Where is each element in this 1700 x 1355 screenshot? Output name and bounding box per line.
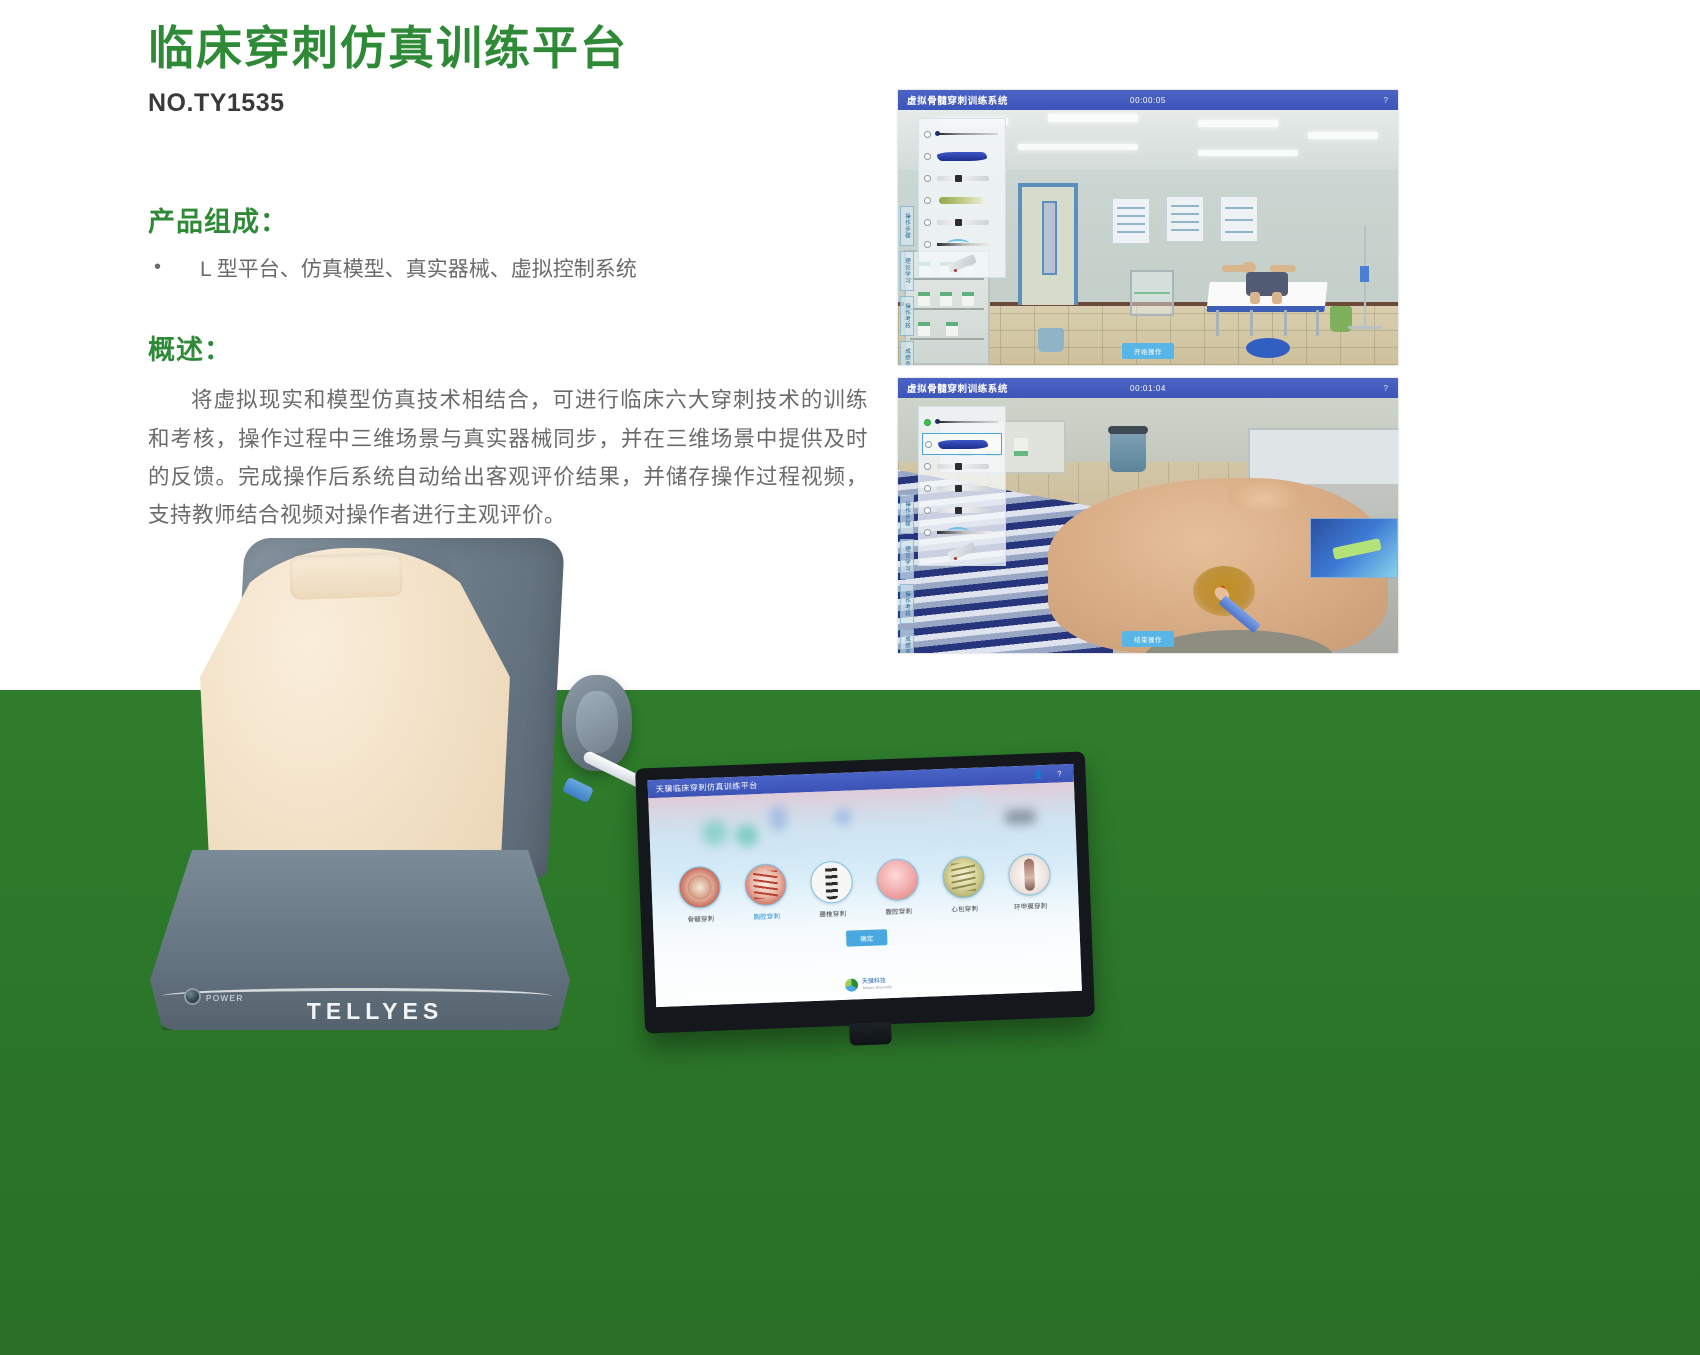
session-timer: 00:00:05 bbox=[898, 96, 1398, 105]
company-logo: 天骥科技 Tellyes Scientific bbox=[845, 977, 892, 992]
large-syringe-icon bbox=[935, 504, 1000, 517]
sidebar-item-exam[interactable]: 操作考核 bbox=[900, 584, 914, 624]
puncture-needle-icon bbox=[935, 128, 1000, 141]
syringe-icon bbox=[935, 172, 1000, 185]
waste-bin bbox=[1038, 328, 1064, 352]
tool-row-marrow-kit[interactable] bbox=[922, 521, 1002, 543]
composition-heading: 产品组成： bbox=[148, 200, 868, 239]
side-tab-strip[interactable]: 操作步骤 理论学习 操作考核 成绩查询 bbox=[900, 206, 914, 365]
screenshot-clinic-scene: 虚拟骨髓穿刺训练系统 00:00:05 ? bbox=[898, 90, 1398, 365]
sidebar-item-exam[interactable]: 操作考核 bbox=[900, 296, 914, 336]
green-swab-icon bbox=[935, 482, 1000, 495]
manikin-neck-plate bbox=[289, 552, 402, 600]
forceps-icon bbox=[935, 150, 1000, 163]
tool-row-swab[interactable] bbox=[922, 189, 1002, 211]
puncture-needle-icon bbox=[935, 416, 1000, 429]
picture-in-picture-view bbox=[1310, 518, 1398, 578]
stool bbox=[1246, 338, 1290, 358]
syringe-icon bbox=[935, 460, 1000, 473]
shoulder bbox=[1228, 480, 1298, 512]
tool-row-large-syringe[interactable] bbox=[922, 499, 1002, 521]
question-mark-icon[interactable]: ? bbox=[1057, 769, 1062, 778]
instrument-tool-panel[interactable] bbox=[918, 406, 1006, 566]
overview-body: 将虚拟现实和模型仿真技术相结合，可进行临床六大穿刺技术的训练和考核，操作过程中三… bbox=[148, 381, 868, 534]
tool-row-syringe[interactable] bbox=[922, 167, 1002, 189]
blurred-shape bbox=[1005, 809, 1036, 824]
radio-icon[interactable] bbox=[924, 463, 931, 470]
tool-row-syringe[interactable] bbox=[922, 455, 1002, 477]
procedure-pericardium[interactable]: 心包穿刺 bbox=[939, 855, 989, 914]
list-item: L 型平台、仿真模型、真实器械、虚拟控制系统 bbox=[148, 253, 868, 287]
monitor-bezel: 天骥临床穿刺仿真训练平台 👤 ? 骨髓穿刺 bbox=[635, 751, 1095, 1033]
app-titlebar: 虚拟骨髓穿刺训练系统 00:01:04 ? bbox=[898, 378, 1398, 398]
blurred-shape bbox=[769, 805, 788, 832]
radio-icon[interactable] bbox=[924, 485, 931, 492]
radio-icon[interactable] bbox=[924, 175, 931, 182]
tool-row-marrow-kit[interactable] bbox=[922, 233, 1002, 255]
blurred-shape bbox=[735, 824, 758, 847]
wall-poster bbox=[1220, 196, 1258, 242]
screenshot-puncture-closeup: 虚拟骨髓穿刺训练系统 00:01:04 ? bbox=[898, 378, 1398, 653]
instrument-trolley bbox=[1130, 270, 1174, 316]
blurred-shape bbox=[835, 808, 852, 825]
touchscreen-monitor: 天骥临床穿刺仿真训练平台 👤 ? 骨髓穿刺 bbox=[635, 751, 1095, 1033]
forceps-icon bbox=[936, 438, 999, 451]
procedure-cricothyroid[interactable]: 环甲膜穿刺 bbox=[1005, 853, 1055, 912]
platform-title: 天骥临床穿刺仿真训练平台 bbox=[656, 780, 758, 795]
sidebar-item-scores[interactable]: 成绩查询 bbox=[900, 341, 914, 365]
radio-icon[interactable] bbox=[925, 441, 932, 448]
brand-logo: TELLYES bbox=[140, 998, 610, 1025]
iv-stand bbox=[1364, 226, 1366, 330]
pericardium-icon bbox=[942, 855, 986, 899]
info-column: 临床穿刺仿真训练平台 NO.TY1535 产品组成： L 型平台、仿真模型、真实… bbox=[148, 22, 868, 535]
ceiling-light bbox=[1048, 114, 1138, 122]
wall-poster bbox=[1166, 196, 1204, 242]
abdomen-icon bbox=[876, 858, 920, 902]
tool-extra-tray-icon bbox=[922, 255, 1002, 273]
procedure-label: 胸腔穿刺 bbox=[753, 910, 780, 921]
scene-viewport[interactable]: 操作步骤 理论学习 操作考核 成绩查询 bbox=[898, 110, 1398, 365]
procedure-thorax[interactable]: 胸腔穿刺 bbox=[741, 863, 791, 922]
sidebar-item-scores[interactable]: 成绩查询 bbox=[900, 629, 914, 653]
procedure-label: 腹腔穿刺 bbox=[885, 905, 912, 916]
procedure-label: 心包穿刺 bbox=[951, 903, 978, 914]
green-swab-icon bbox=[935, 194, 1000, 207]
instrument-tool-panel[interactable] bbox=[918, 118, 1006, 278]
tool-row-forceps[interactable] bbox=[922, 145, 1002, 167]
overview-heading: 概述： bbox=[148, 328, 868, 367]
waste-bin bbox=[1110, 430, 1146, 472]
procedure-abdomen[interactable]: 腹腔穿刺 bbox=[873, 858, 923, 917]
tool-row-forceps[interactable] bbox=[922, 433, 1002, 455]
marrow-needle-kit-icon bbox=[935, 526, 1000, 539]
procedure-label: 环甲膜穿刺 bbox=[1014, 900, 1048, 911]
blurred-shape bbox=[948, 795, 989, 813]
question-mark-icon[interactable]: ? bbox=[1384, 384, 1388, 393]
patient-avatar bbox=[1228, 260, 1308, 300]
confirm-button[interactable]: 确定 bbox=[846, 929, 888, 947]
radio-icon[interactable] bbox=[924, 241, 931, 248]
articulating-arm-tip bbox=[562, 777, 594, 804]
page-root: 临床穿刺仿真训练平台 NO.TY1535 产品组成： L 型平台、仿真模型、真实… bbox=[0, 0, 1700, 1355]
procedure-bone-marrow[interactable]: 骨髓穿刺 bbox=[675, 865, 725, 924]
radio-icon[interactable] bbox=[924, 219, 931, 226]
radio-icon[interactable] bbox=[924, 529, 931, 536]
blurred-shape bbox=[701, 819, 728, 846]
radio-icon[interactable] bbox=[924, 197, 931, 204]
lumbar-spine-icon bbox=[810, 860, 854, 904]
tool-extra-tray-icon bbox=[922, 543, 1002, 561]
page-title: 临床穿刺仿真训练平台 bbox=[148, 22, 868, 75]
composition-list: L 型平台、仿真模型、真实器械、虚拟控制系统 bbox=[148, 253, 868, 287]
question-mark-icon[interactable]: ? bbox=[1384, 96, 1388, 105]
radio-icon-selected[interactable] bbox=[924, 419, 931, 426]
sidebar-item-steps[interactable]: 操作步骤 bbox=[900, 494, 914, 534]
app-titlebar: 虚拟骨髓穿刺训练系统 00:00:05 ? bbox=[898, 90, 1398, 110]
monitor-stand-neck bbox=[849, 1022, 892, 1046]
sidebar-item-steps[interactable]: 操作步骤 bbox=[900, 206, 914, 246]
door bbox=[1018, 183, 1078, 305]
ceiling-light bbox=[1018, 144, 1138, 150]
logo-mark-icon bbox=[845, 978, 858, 991]
start-operation-button[interactable]: 开始操作 bbox=[1122, 343, 1174, 359]
wall-poster bbox=[1112, 198, 1150, 244]
thorax-icon bbox=[744, 863, 788, 907]
logo-name-en: Tellyes Scientific bbox=[862, 985, 892, 990]
tool-row-swab[interactable] bbox=[922, 477, 1002, 499]
session-timer: 00:01:04 bbox=[898, 384, 1398, 393]
ceiling-light bbox=[1308, 132, 1378, 139]
radio-icon[interactable] bbox=[924, 153, 931, 160]
ceiling-light bbox=[1198, 120, 1278, 127]
tool-row-large-syringe[interactable] bbox=[922, 211, 1002, 233]
monitor-screen[interactable]: 天骥临床穿刺仿真训练平台 👤 ? 骨髓穿刺 bbox=[648, 764, 1082, 1007]
model-number: NO.TY1535 bbox=[148, 89, 868, 118]
end-operation-button[interactable]: 结束操作 bbox=[1122, 631, 1174, 647]
user-icon[interactable]: 👤 bbox=[1033, 770, 1043, 779]
side-tab-strip[interactable]: 操作步骤 理论学习 操作考核 成绩查询 bbox=[900, 494, 914, 653]
sidebar-item-theory[interactable]: 理论学习 bbox=[900, 539, 914, 579]
tool-row-needle[interactable] bbox=[922, 411, 1002, 433]
bone-marrow-icon bbox=[678, 866, 722, 910]
cricothyroid-icon bbox=[1008, 853, 1052, 897]
manikin-training-platform: POWER TELLYES bbox=[140, 520, 610, 1080]
radio-icon[interactable] bbox=[924, 131, 931, 138]
bed-legs bbox=[1216, 310, 1320, 336]
sidebar-item-theory[interactable]: 理论学习 bbox=[900, 251, 914, 291]
radio-icon[interactable] bbox=[924, 507, 931, 514]
marrow-needle-kit-icon bbox=[935, 238, 1000, 251]
large-syringe-icon bbox=[935, 216, 1000, 229]
scene-viewport[interactable]: 操作步骤 理论学习 操作考核 成绩查询 bbox=[898, 398, 1398, 653]
procedure-label: 腰椎穿刺 bbox=[819, 908, 846, 919]
ceiling-light bbox=[1198, 150, 1298, 156]
tool-row-needle[interactable] bbox=[922, 123, 1002, 145]
procedure-lumbar[interactable]: 腰椎穿刺 bbox=[807, 860, 857, 919]
procedure-label: 骨髓穿刺 bbox=[687, 913, 714, 924]
